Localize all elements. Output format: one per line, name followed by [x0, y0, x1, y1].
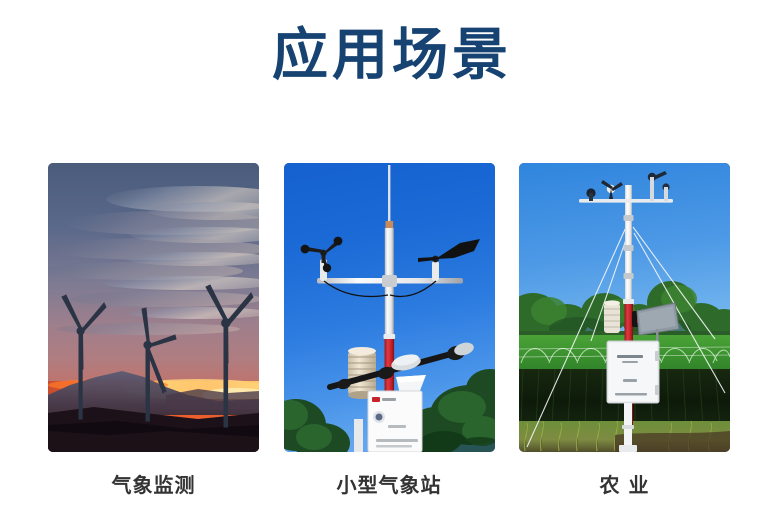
scenario-caption-small-weather-station: 小型气象站	[284, 472, 495, 498]
scenario-card-weather-monitoring[interactable]: 气象监测	[48, 163, 259, 498]
application-scenarios-page: 应用场景	[0, 0, 784, 530]
scenario-card-agriculture[interactable]: 农 业	[519, 163, 730, 498]
scenario-caption-weather-monitoring: 气象监测	[48, 472, 259, 498]
page-title: 应用场景	[272, 22, 512, 90]
wind-turbines-sunset-photo	[48, 163, 259, 452]
agriculture-field-station-photo	[519, 163, 730, 452]
scenario-card-list: 气象监测	[48, 163, 730, 498]
scenario-caption-agriculture: 农 业	[519, 472, 730, 498]
page-title-container: 应用场景	[0, 22, 784, 90]
small-weather-station-photo	[284, 163, 495, 452]
scenario-card-small-weather-station[interactable]: 小型气象站	[284, 163, 495, 498]
